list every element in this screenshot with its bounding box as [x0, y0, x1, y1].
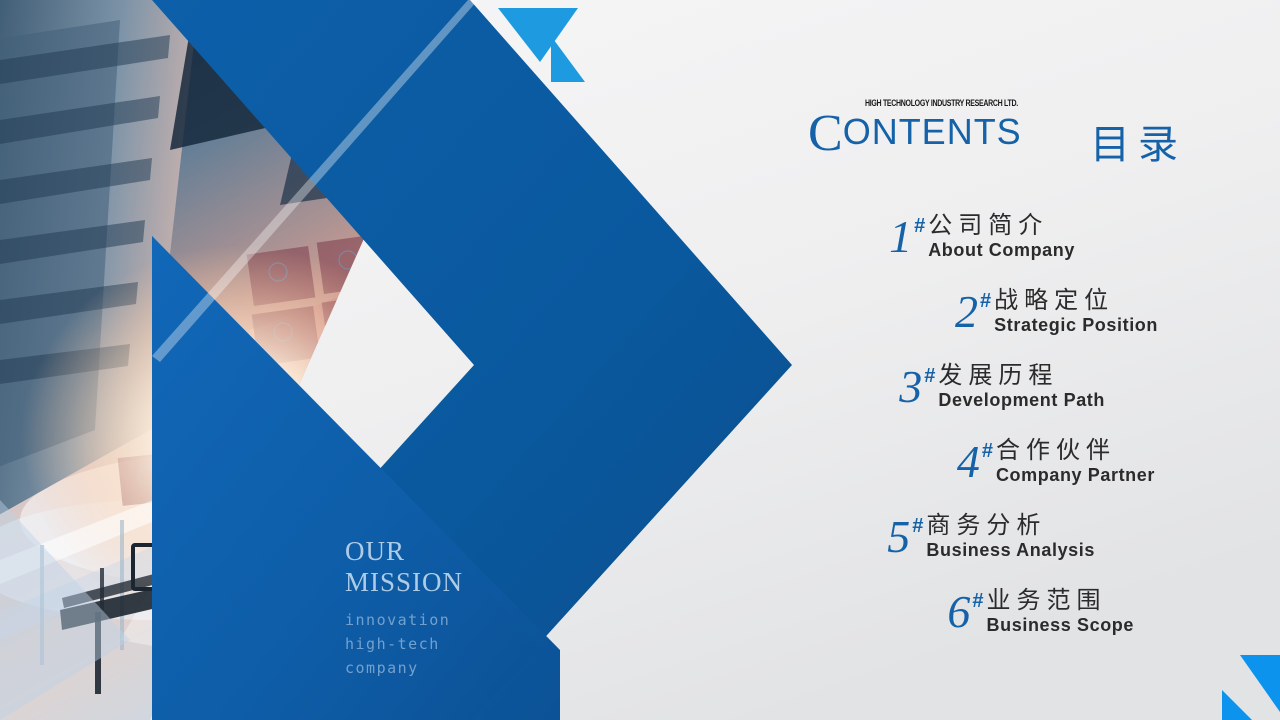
page-title-capital: C	[808, 105, 843, 162]
toc-labels: 战略定位 Strategic Position	[994, 287, 1158, 336]
presentation-slide: OUR MISSION innovation high-tech company…	[0, 0, 1280, 720]
toc-item-6[interactable]: 6 # 业务范围 Business Scope	[760, 587, 1280, 662]
toc-item-5[interactable]: 5 # 商务分析 Business Analysis	[760, 512, 1280, 587]
toc-label-en: Company Partner	[996, 464, 1155, 486]
toc-item-1[interactable]: 1 # 公司简介 About Company	[760, 212, 1280, 287]
mission-sub-3: company	[345, 656, 575, 680]
toc-label-en: About Company	[928, 239, 1075, 261]
toc-labels: 业务范围 Business Scope	[987, 587, 1134, 636]
page-title: CONTENTS	[808, 108, 1022, 160]
toc-item-4[interactable]: 4 # 合作伙伴 Company Partner	[760, 437, 1280, 512]
company-tagline: HIGH TECHNOLOGY INDUSTRY RESEARCH LTD.	[865, 98, 1018, 108]
toc-label-cn: 商务分析	[926, 512, 1095, 539]
toc-label-en: Strategic Position	[994, 314, 1158, 336]
hash-icon: #	[980, 291, 991, 311]
toc-number: 4	[957, 439, 980, 485]
page-title-rest: ONTENTS	[843, 111, 1022, 152]
toc-label-cn: 战略定位	[994, 287, 1158, 314]
toc-label-cn: 发展历程	[938, 362, 1105, 389]
mission-sub-1: innovation	[345, 608, 575, 632]
contents-title-block: HIGH TECHNOLOGY INDUSTRY RESEARCH LTD. C…	[780, 98, 1260, 168]
mission-line-1: OUR	[345, 536, 575, 567]
page-title-chinese: 目录	[1090, 112, 1186, 170]
toc-label-cn: 合作伙伴	[996, 437, 1155, 464]
contents-panel: HIGH TECHNOLOGY INDUSTRY RESEARCH LTD. C…	[760, 0, 1280, 720]
toc-label-en: Development Path	[938, 389, 1105, 411]
mission-subtext: innovation high-tech company	[345, 608, 575, 680]
toc-label-en: Business Analysis	[926, 539, 1095, 561]
toc-number: 6	[947, 589, 970, 635]
toc-item-2[interactable]: 2 # 战略定位 Strategic Position	[760, 287, 1280, 362]
toc-labels: 公司简介 About Company	[928, 212, 1075, 261]
toc-labels: 合作伙伴 Company Partner	[996, 437, 1155, 486]
table-of-contents: 1 # 公司简介 About Company 2 # 战略定位 Strategi…	[760, 212, 1280, 662]
toc-labels: 发展历程 Development Path	[938, 362, 1105, 411]
toc-number: 3	[899, 364, 922, 410]
toc-number: 5	[887, 514, 910, 560]
mission-line-2: MISSION	[345, 567, 575, 598]
toc-labels: 商务分析 Business Analysis	[926, 512, 1095, 561]
hash-icon: #	[982, 441, 993, 461]
hash-icon: #	[972, 591, 983, 611]
toc-item-3[interactable]: 3 # 发展历程 Development Path	[760, 362, 1280, 437]
mission-block: OUR MISSION innovation high-tech company	[345, 536, 575, 680]
mission-sub-2: high-tech	[345, 632, 575, 656]
hash-icon: #	[914, 216, 925, 236]
toc-number: 1	[889, 214, 912, 260]
toc-label-en: Business Scope	[987, 614, 1134, 636]
hash-icon: #	[924, 366, 935, 386]
toc-number: 2	[955, 289, 978, 335]
toc-label-cn: 公司简介	[928, 212, 1075, 239]
toc-label-cn: 业务范围	[987, 587, 1134, 614]
hash-icon: #	[912, 516, 923, 536]
